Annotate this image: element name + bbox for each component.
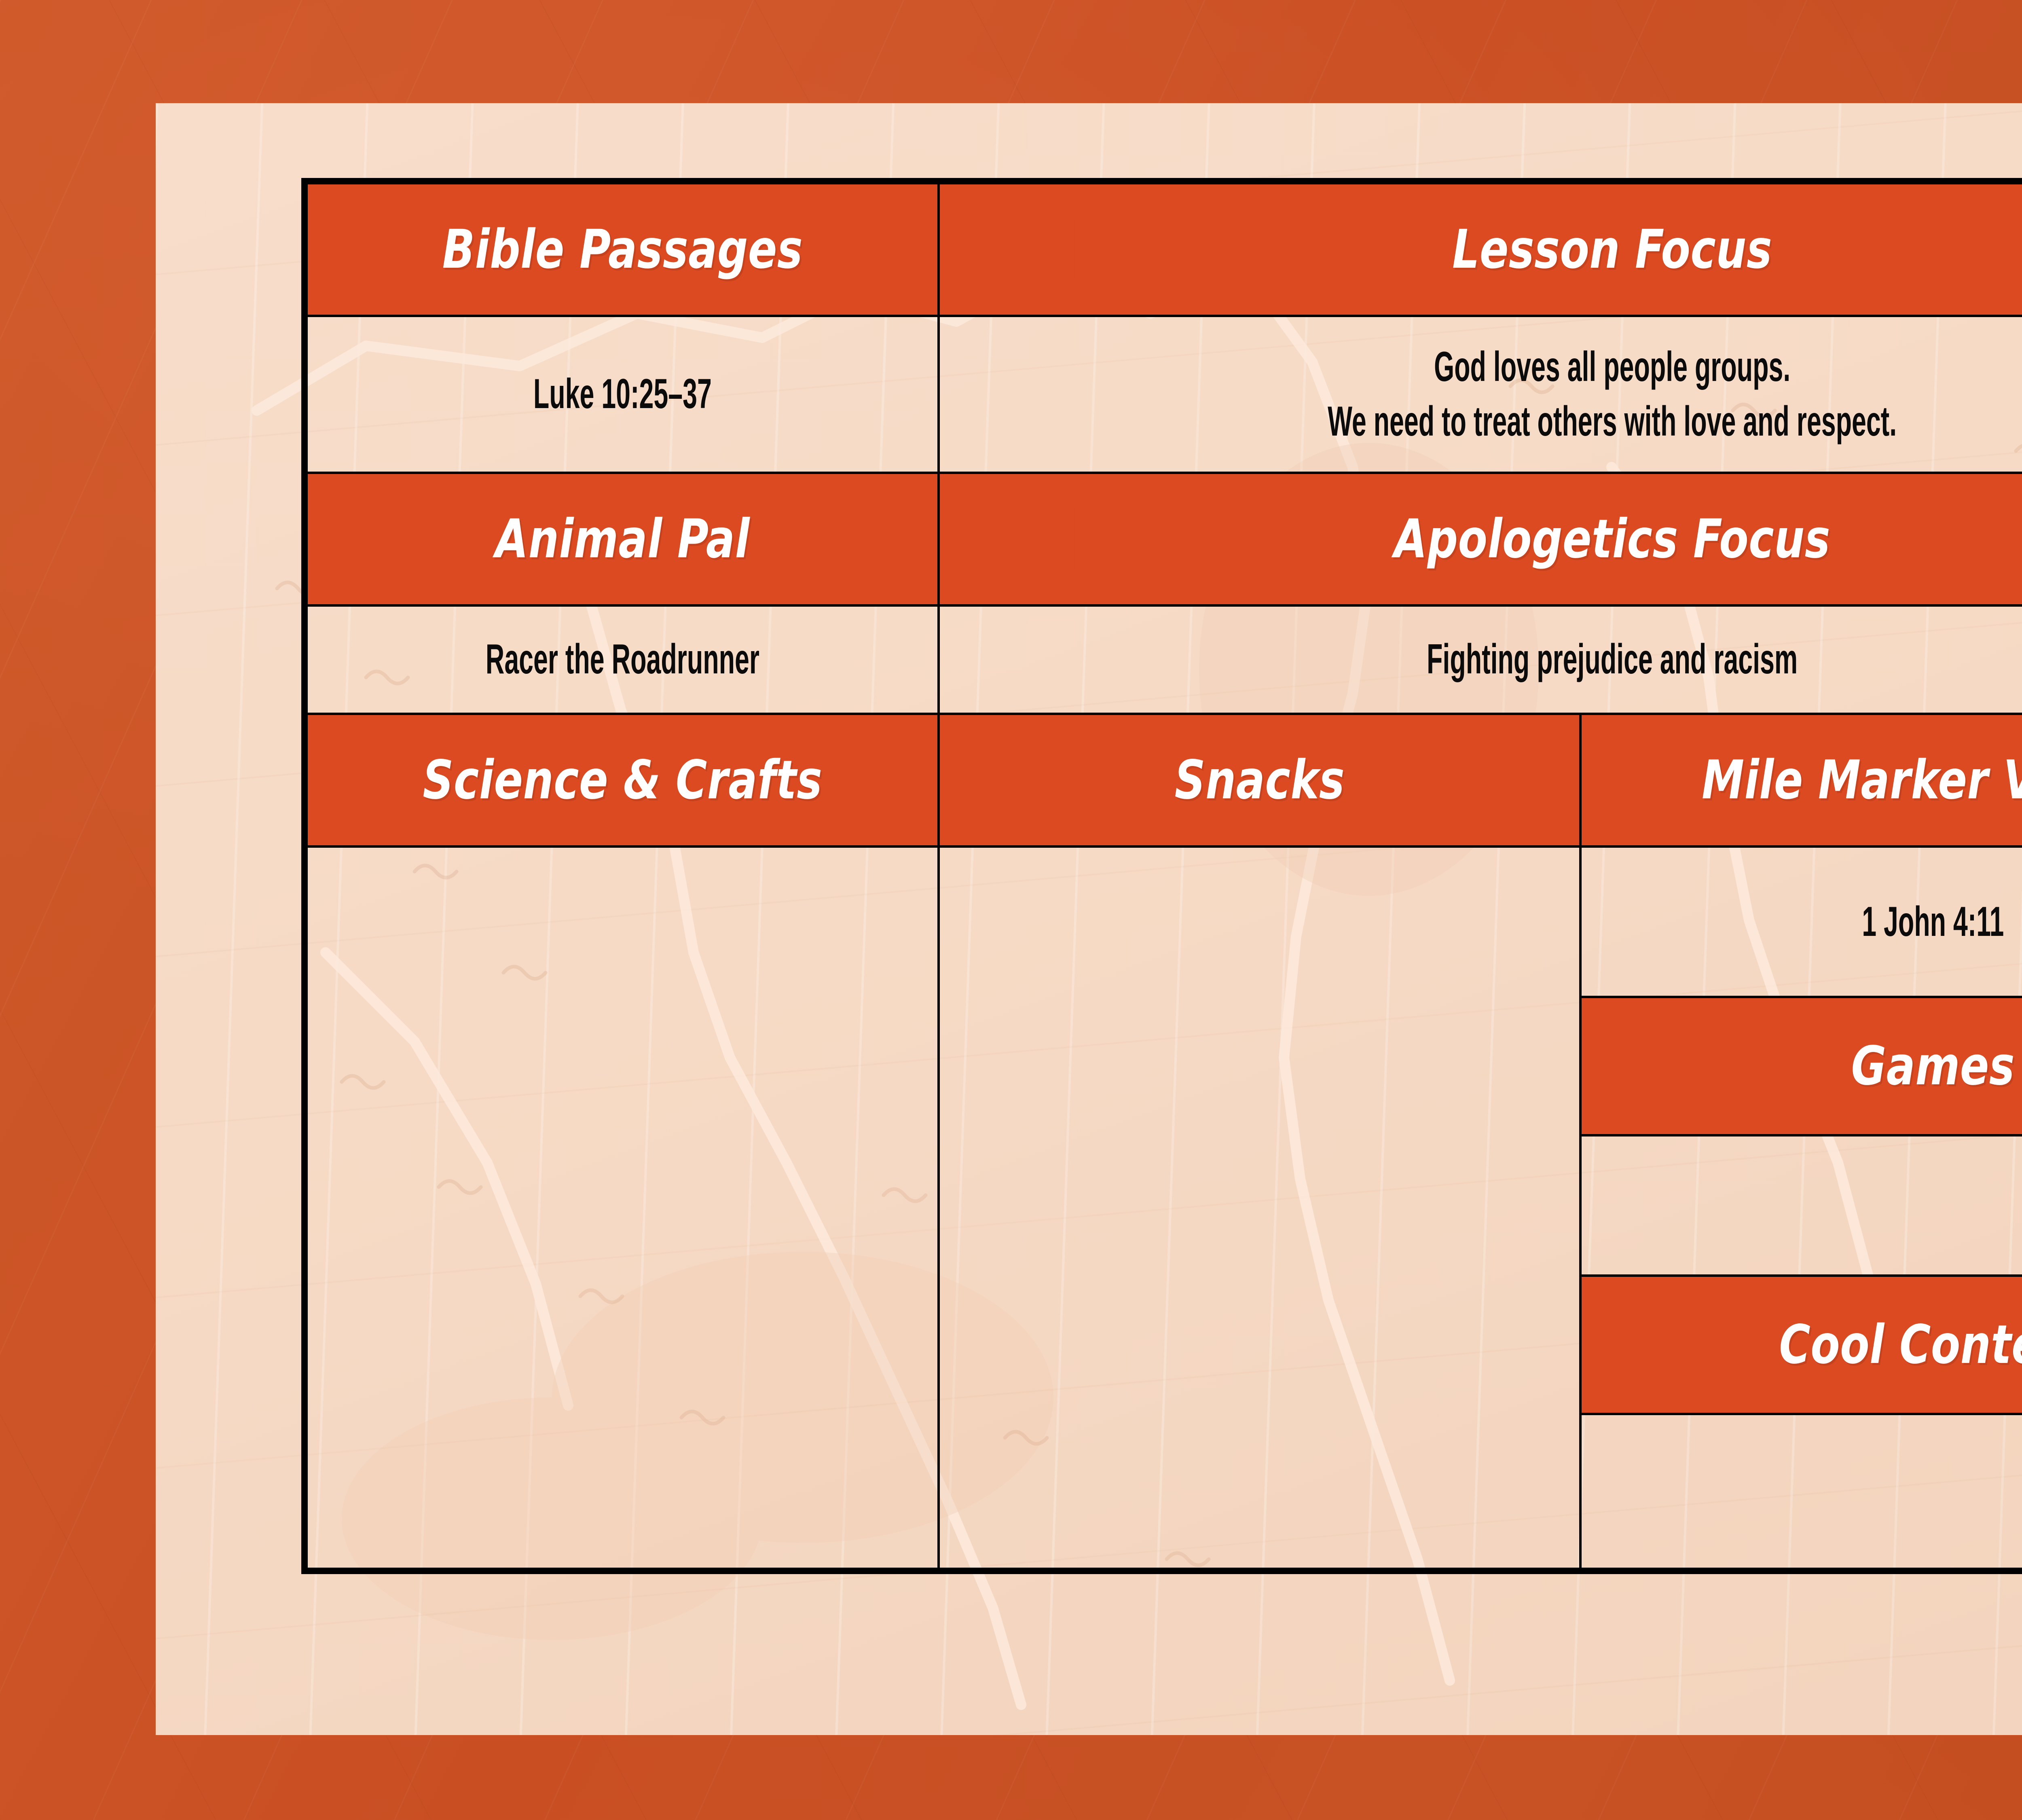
body-line: God loves all people groups. [1195,340,2022,394]
body-cell-cool-contest [1580,1414,2022,1569]
header-label-snacks: Snacks [1004,749,1515,811]
slide-root: Bible Passages Lesson Focus Luke 10:25–3… [0,0,2022,1820]
header-cell-snacks: Snacks [939,714,1581,847]
header-cell-science-crafts: Science & Crafts [307,714,939,847]
body-cell-games [1580,1135,2022,1276]
body-line: 1 John 4:11 [1715,895,2022,949]
header-label-lesson-focus: Lesson Focus [1074,218,2022,281]
body-line: Luke 10:25–37 [427,367,818,421]
body-cell-snacks [939,847,1581,1569]
table-row: Bible Passages Lesson Focus [307,183,2022,316]
header-cell-apologetics-focus: Apologetics Focus [939,473,2022,605]
body-text-bible-passage: Luke 10:25–37 [427,367,818,421]
header-cell-cool-contest: Cool Contest [1580,1276,2022,1414]
body-line: Racer the Roadrunner [427,632,818,687]
table-row: Racer the Roadrunner Fighting prejudice … [307,605,2022,714]
body-cell-science-crafts [307,847,939,1569]
body-line: We need to treat others with love and re… [1195,394,2022,449]
table-row: 1 John 4:11 [307,847,2022,997]
table-row: Animal Pal Apologetics Focus [307,473,2022,605]
header-label-animal-pal: Animal Pal [371,508,874,570]
header-cell-animal-pal: Animal Pal [307,473,939,605]
header-label-mile-marker-verses: Mile Marker Verses [1652,749,2022,811]
lesson-schedule-table: Bible Passages Lesson Focus Luke 10:25–3… [301,178,2022,1574]
header-cell-games: Games [1580,997,2022,1135]
header-label-cool-contest: Cool Contest [1652,1314,2022,1376]
header-cell-mile-marker-verses: Mile Marker Verses [1580,714,2022,847]
table-row: Science & Crafts Snacks Mile Marker Vers… [307,714,2022,847]
body-cell-mile-marker-verse: 1 John 4:11 [1580,847,2022,997]
body-cell-lesson-focus: God loves all people groups. We need to … [939,316,2022,473]
body-cell-animal-pal: Racer the Roadrunner [307,605,939,714]
header-cell-lesson-focus: Lesson Focus [939,183,2022,316]
table-row: Luke 10:25–37 God loves all people group… [307,316,2022,473]
body-text-mile-marker-verse: 1 John 4:11 [1715,895,2022,949]
body-text-apologetics-focus: Fighting prejudice and racism [1195,632,2022,687]
header-label-games: Games [1652,1035,2022,1097]
body-cell-apologetics-focus: Fighting prejudice and racism [939,605,2022,714]
body-line: Fighting prejudice and racism [1195,632,2022,687]
body-cell-bible-passage: Luke 10:25–37 [307,316,939,473]
header-cell-bible-passages: Bible Passages [307,183,939,316]
header-label-science-crafts: Science & Crafts [371,749,874,811]
header-label-apologetics-focus: Apologetics Focus [1074,508,2022,570]
body-text-animal-pal: Racer the Roadrunner [427,632,818,687]
body-text-lesson-focus: God loves all people groups. We need to … [1195,340,2022,449]
header-label-bible-passages: Bible Passages [371,218,874,281]
content-panel: Bible Passages Lesson Focus Luke 10:25–3… [156,103,2022,1735]
